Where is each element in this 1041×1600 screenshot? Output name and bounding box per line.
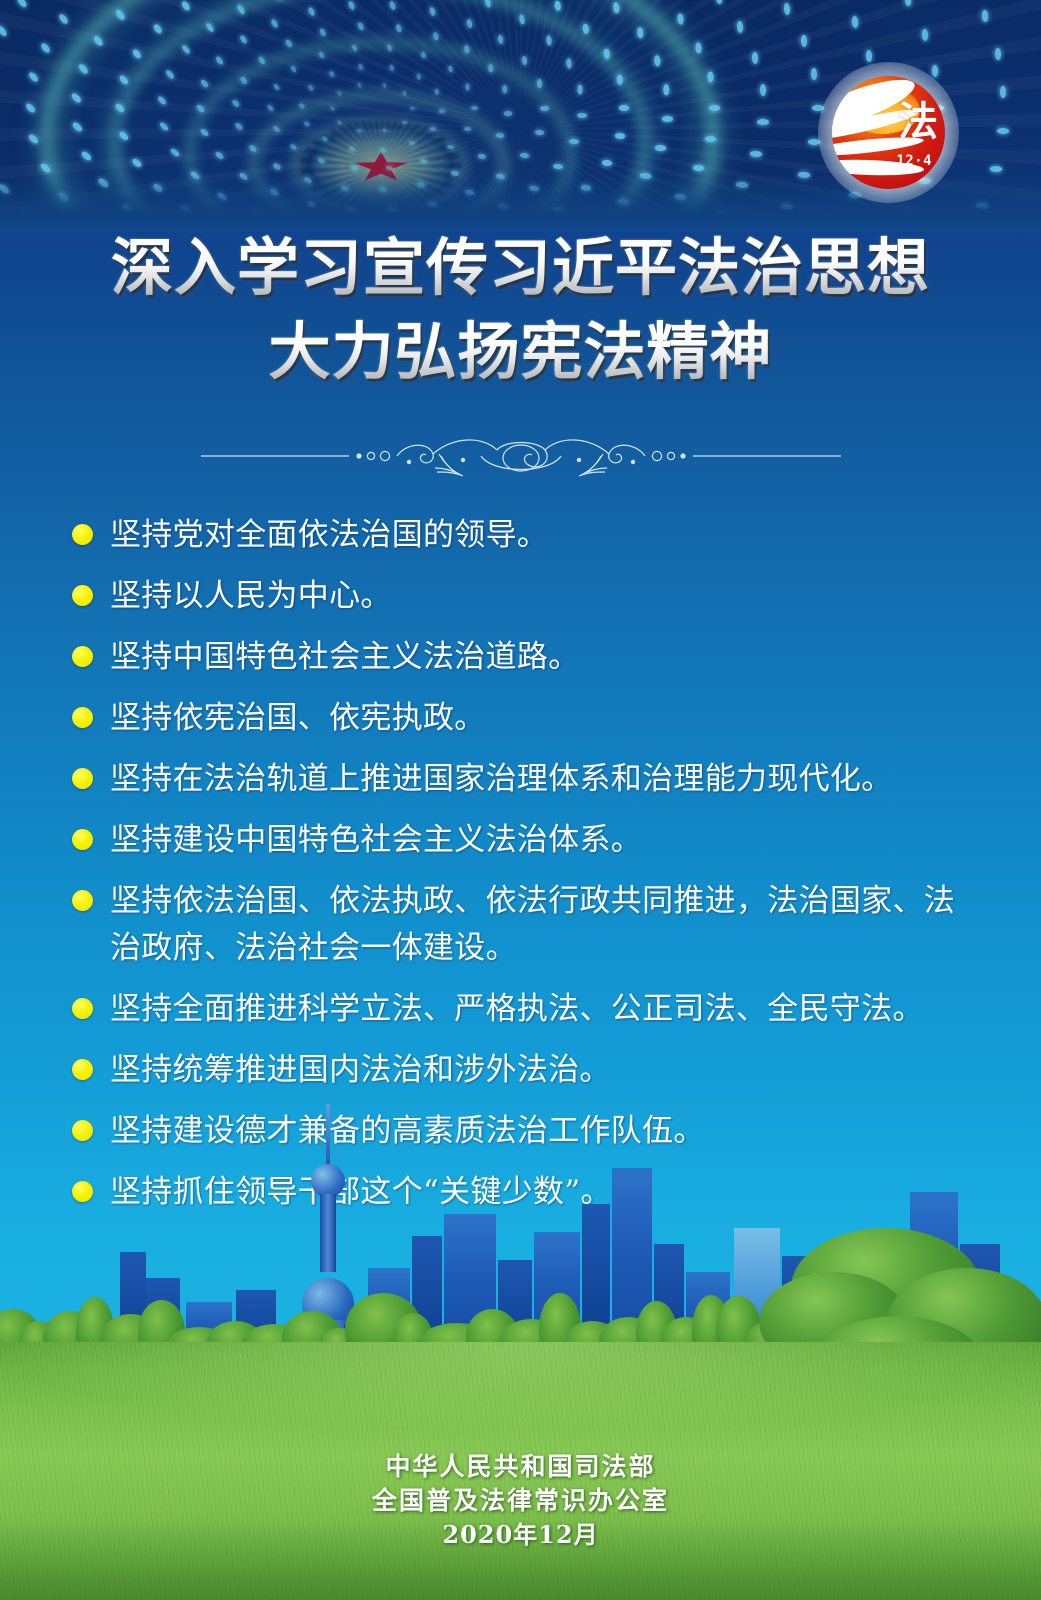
tower-column [320,1194,336,1272]
tower-mast [326,1104,330,1172]
list-item: 坚持以人民为中心。 [72,573,972,620]
tower-upper-sphere [311,1164,345,1198]
list-item-text: 坚持依法治国、依法执政、依法行政共同推进，法治国家、法治政府、法治社会一体建设。 [110,878,972,972]
list-item-text: 坚持党对全面依法治国的领导。 [110,512,972,559]
flourish-ornament-icon [201,430,841,482]
list-item: 坚持建设中国特色社会主义法治体系。 [72,817,972,864]
list-item-text: 坚持以人民为中心。 [110,573,972,620]
list-item-text: 坚持统筹推进国内法治和涉外法治。 [110,1047,972,1094]
logo-fa-character: 法 [898,102,938,142]
list-item: 坚持中国特色社会主义法治道路。 [72,634,972,681]
bullet-dot-icon [72,524,93,545]
logo-disc: 法 12·4 [832,76,945,189]
list-item: 坚持全面推进科学立法、严格执法、公正司法、全民守法。 [72,986,972,1033]
bullet-dot-icon [72,1059,93,1080]
list-item-text: 坚持在法治轨道上推进国家治理体系和治理能力现代化。 [110,756,972,803]
bullet-dot-icon [72,585,93,606]
logo-date-label: 12·4 [896,153,932,169]
bullet-dot-icon [72,829,93,850]
bullet-dot-icon [72,646,93,667]
footer-date: 2020年12月 [0,1518,1041,1552]
list-item: 坚持在法治轨道上推进国家治理体系和治理能力现代化。 [72,756,972,803]
poster-title: 深入学习宣传习近平法治思想 大力弘扬宪法精神 [0,226,1041,394]
list-item-text: 坚持建设中国特色社会主义法治体系。 [110,817,972,864]
list-item: 坚持依宪治国、依宪执政。 [72,695,972,742]
list-item-text: 坚持依宪治国、依宪执政。 [110,695,972,742]
list-item-text: 坚持中国特色社会主义法治道路。 [110,634,972,681]
bullet-dot-icon [72,707,93,728]
title-line-1: 深入学习宣传习近平法治思想 [0,226,1041,310]
list-item: 坚持党对全面依法治国的领导。 [72,512,972,559]
bullet-dot-icon [72,768,93,789]
poster-root: 法 12·4 深入学习宣传习近平法治思想 大力弘扬宪法精神 [0,0,1041,1600]
title-line-2: 大力弘扬宪法精神 [0,310,1041,394]
ornament-divider [0,428,1041,484]
list-item: 坚持依法治国、依法执政、依法行政共同推进，法治国家、法治政府、法治社会一体建设。 [72,878,972,972]
bullet-dot-icon [72,890,93,911]
footer-org-secondary: 全国普及法律常识办公室 [0,1484,1041,1518]
bullet-dot-icon [72,998,93,1019]
poster-footer: 中华人民共和国司法部 全国普及法律常识办公室 2020年12月 [0,1450,1041,1552]
constitution-day-logo: 法 12·4 [832,76,945,189]
list-item: 坚持统筹推进国内法治和涉外法治。 [72,1047,972,1094]
list-item-text: 坚持全面推进科学立法、严格执法、公正司法、全民守法。 [110,986,972,1033]
footer-org-primary: 中华人民共和国司法部 [0,1450,1041,1484]
